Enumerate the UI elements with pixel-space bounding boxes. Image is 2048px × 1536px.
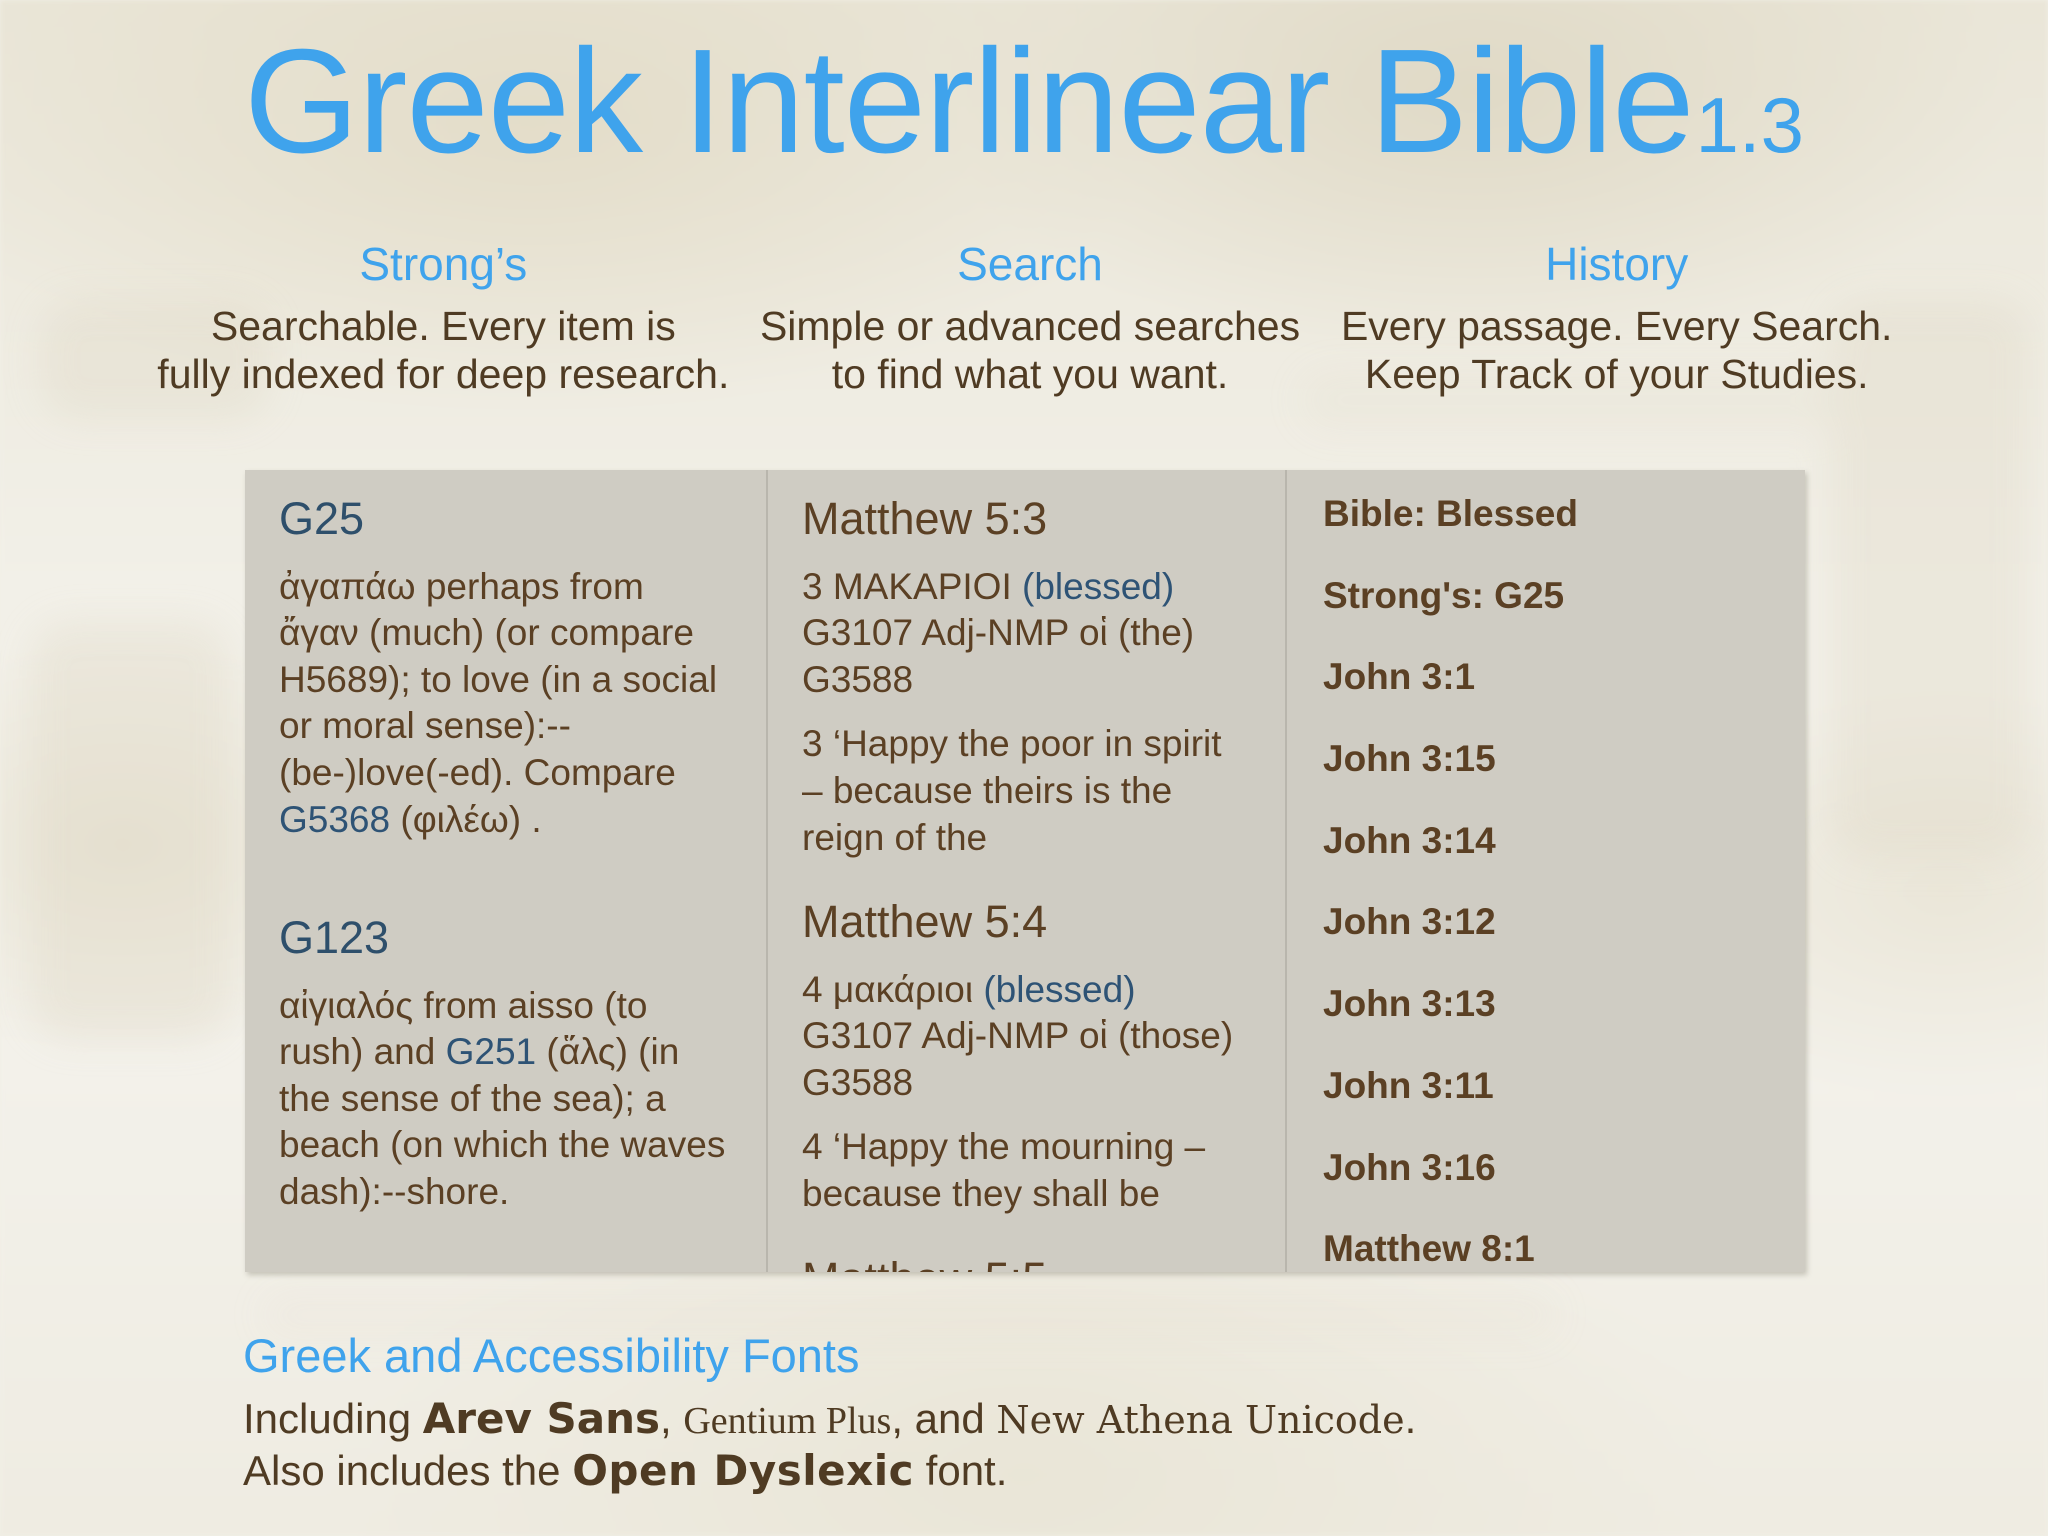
- strongs-pane[interactable]: G25 ἀγαπάω perhaps from ἄγαν (much) (or …: [245, 470, 766, 1272]
- fonts-line1-sep1: ,: [660, 1395, 683, 1442]
- font-name-gentium-plus: Gentium Plus: [683, 1400, 891, 1442]
- app-title-text: Greek Interlinear Bible: [244, 19, 1693, 184]
- feature-strongs-description: Searchable. Every item is fully indexed …: [150, 302, 737, 399]
- fonts-line1-suffix: .: [1405, 1395, 1417, 1442]
- history-item[interactable]: John 3:14: [1323, 821, 1771, 862]
- font-name-new-athena-unicode: New Athena Unicode: [996, 1398, 1404, 1442]
- history-item[interactable]: John 3:16: [1323, 1148, 1771, 1189]
- strongs-entry[interactable]: G123 αἰγιαλός from aisso (to rush) and G…: [279, 913, 732, 1216]
- strongs-definition-pre: ἀγαπάω perhaps from ἄγαν (much) (or comp…: [279, 566, 717, 793]
- fonts-line1-prefix: Including: [243, 1395, 423, 1442]
- translation-line: 3 ‘Happy the poor in spirit – because th…: [802, 721, 1251, 861]
- main-panel: G25 ἀγαπάω perhaps from ἄγαν (much) (or …: [245, 470, 1805, 1272]
- interlinear-pre: 4 μακάριοι: [802, 969, 983, 1010]
- fonts-line-1: Including Arev Sans, Gentium Plus, and N…: [243, 1393, 1743, 1446]
- search-result[interactable]: Matthew 5:4 4 μακάριοι (blessed) G3107 A…: [802, 897, 1251, 1218]
- search-result[interactable]: Matthew 5:3 3 ΜΑΚΑΡΙΟΙ (blessed) G3107 A…: [802, 494, 1251, 861]
- feature-history-title: History: [1323, 240, 1910, 290]
- fonts-line-2: Also includes the Open Dyslexic font.: [243, 1445, 1743, 1498]
- verse-reference[interactable]: Matthew 5:3: [802, 494, 1251, 544]
- interlinear-gloss[interactable]: (blessed): [983, 969, 1135, 1010]
- strongs-cross-reference[interactable]: G251: [446, 1031, 537, 1072]
- strongs-definition: αἰγιαλός from aisso (to rush) and G251 (…: [279, 983, 732, 1216]
- search-result[interactable]: Matthew 5:5 5 μακάριοι (blessed) G3107 A…: [802, 1254, 1251, 1272]
- interlinear-line: 4 μακάριοι (blessed) G3107 Adj-NMP οἱ (t…: [802, 967, 1251, 1107]
- history-item[interactable]: Matthew 8:1: [1323, 1229, 1771, 1270]
- verse-reference[interactable]: Matthew 5:5: [802, 1254, 1251, 1272]
- history-item[interactable]: John 3:13: [1323, 984, 1771, 1025]
- search-results-pane[interactable]: Matthew 5:3 3 ΜΑΚΑΡΙΟΙ (blessed) G3107 A…: [766, 470, 1285, 1272]
- feature-history-description: Every passage. Every Search. Keep Track …: [1323, 302, 1910, 399]
- feature-search: Search Simple or advanced searches to fi…: [737, 240, 1324, 398]
- verse-reference[interactable]: Matthew 5:4: [802, 897, 1251, 947]
- history-item[interactable]: John 3:1: [1323, 657, 1771, 698]
- history-item[interactable]: Bible: Blessed: [1323, 494, 1771, 535]
- fonts-line1-sep2: , and: [891, 1395, 996, 1442]
- feature-history: History Every passage. Every Search. Kee…: [1323, 240, 1910, 398]
- fonts-line2-prefix: Also includes the: [243, 1447, 572, 1494]
- fonts-line2-suffix: font.: [914, 1447, 1007, 1494]
- history-item[interactable]: Strong's: G25: [1323, 576, 1771, 617]
- strongs-number[interactable]: G123: [279, 913, 732, 963]
- feature-search-title: Search: [737, 240, 1324, 290]
- entry-spacer: [279, 1222, 732, 1272]
- font-name-open-dyslexic: Open Dyslexic: [572, 1446, 914, 1495]
- history-item[interactable]: John 3:11: [1323, 1066, 1771, 1107]
- history-item[interactable]: John 3:12: [1323, 902, 1771, 943]
- interlinear-post: G3107 Adj-NMP οἱ (those) G3588: [802, 1015, 1233, 1103]
- font-name-arev-sans: Arev Sans: [423, 1394, 660, 1443]
- fonts-section: Greek and Accessibility Fonts Including …: [243, 1330, 1743, 1498]
- feature-columns: Strong’s Searchable. Every item is fully…: [150, 240, 1910, 398]
- interlinear-line: 3 ΜΑΚΑΡΙΟΙ (blessed) G3107 Adj-NMP οἱ (t…: [802, 564, 1251, 704]
- strongs-number[interactable]: G25: [279, 494, 732, 544]
- feature-search-description: Simple or advanced searches to find what…: [737, 302, 1324, 399]
- page-title: Greek Interlinear Bible1.3: [0, 28, 2048, 176]
- app-version-text: 1.3: [1696, 81, 1804, 169]
- translation-line: 4 ‘Happy the mourning – because they sha…: [802, 1124, 1251, 1217]
- feature-strongs: Strong’s Searchable. Every item is fully…: [150, 240, 737, 398]
- history-item[interactable]: John 3:15: [1323, 739, 1771, 780]
- feature-strongs-title: Strong’s: [150, 240, 737, 290]
- fonts-section-title: Greek and Accessibility Fonts: [243, 1330, 1743, 1383]
- interlinear-gloss[interactable]: (blessed): [1022, 566, 1174, 607]
- strongs-definition: ἀγαπάω perhaps from ἄγαν (much) (or comp…: [279, 564, 732, 844]
- history-pane[interactable]: Bible: Blessed Strong's: G25 John 3:1 Jo…: [1285, 470, 1805, 1272]
- interlinear-post: G3107 Adj-NMP οἱ (the) G3588: [802, 612, 1194, 700]
- strongs-definition-post: (φιλέω) .: [390, 799, 542, 840]
- strongs-entry[interactable]: G25 ἀγαπάω perhaps from ἄγαν (much) (or …: [279, 494, 732, 843]
- interlinear-pre: 3 ΜΑΚΑΡΙΟΙ: [802, 566, 1022, 607]
- entry-spacer: [279, 849, 732, 913]
- strongs-cross-reference[interactable]: G5368: [279, 799, 390, 840]
